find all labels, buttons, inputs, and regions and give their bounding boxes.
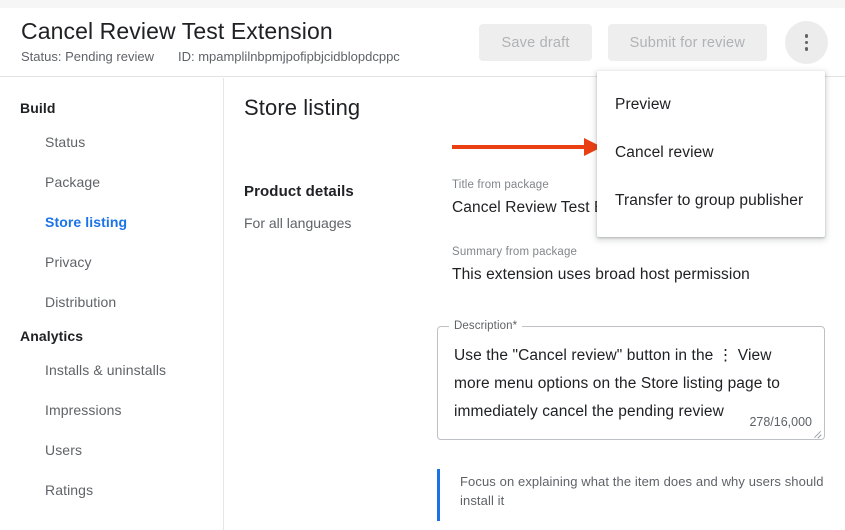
status-text: Status: Pending review: [21, 49, 154, 64]
header-metadata: Status: Pending reviewID: mpamplilnbpmjp…: [21, 49, 400, 64]
sidebar-group-analytics: Analytics: [0, 322, 223, 350]
title-from-package-value: Cancel Review Test E: [452, 199, 604, 217]
product-details-heading: Product details: [244, 183, 354, 200]
summary-from-package-label: Summary from package: [452, 246, 750, 258]
sidebar-item-privacy[interactable]: Privacy: [0, 242, 223, 282]
sidebar-navigation: Build Status Package Store listing Priva…: [0, 78, 224, 530]
more-options-button[interactable]: [785, 21, 828, 64]
summary-from-package-value: This extension uses broad host permissio…: [452, 266, 750, 284]
description-hint-text: Focus on explaining what the item does a…: [460, 469, 825, 510]
page-title-heading: Cancel Review Test Extension: [21, 18, 333, 45]
sidebar-item-impressions[interactable]: Impressions: [0, 390, 223, 430]
three-dots-vertical-icon: [805, 47, 809, 51]
top-chrome-strip: [0, 0, 845, 8]
title-from-package-field: Title from package Cancel Review Test E: [452, 179, 604, 217]
sidebar-item-package[interactable]: Package: [0, 162, 223, 202]
page-header: Cancel Review Test Extension Status: Pen…: [0, 8, 845, 77]
description-field[interactable]: Description* 278/16,000: [437, 326, 825, 440]
sidebar-item-ratings[interactable]: Ratings: [0, 470, 223, 510]
resize-handle-icon[interactable]: [812, 428, 822, 438]
menu-item-preview[interactable]: Preview: [597, 81, 825, 129]
header-actions: Save draft Submit for review: [479, 21, 828, 64]
product-details-subtext: For all languages: [244, 215, 351, 231]
title-from-package-label: Title from package: [452, 179, 604, 191]
summary-from-package-field: Summary from package This extension uses…: [452, 246, 750, 284]
description-character-counter: 278/16,000: [749, 415, 812, 429]
overflow-menu: Preview Cancel review Transfer to group …: [597, 71, 825, 237]
sidebar-item-users[interactable]: Users: [0, 430, 223, 470]
three-dots-vertical-icon: [805, 34, 809, 38]
menu-item-transfer-to-group-publisher[interactable]: Transfer to group publisher: [597, 177, 825, 225]
sidebar-item-store-listing[interactable]: Store listing: [0, 202, 223, 242]
save-draft-button[interactable]: Save draft: [479, 24, 591, 61]
sidebar-item-status[interactable]: Status: [0, 122, 223, 162]
sidebar-item-distribution[interactable]: Distribution: [0, 282, 223, 322]
description-hint: Focus on explaining what the item does a…: [437, 469, 825, 521]
sidebar-item-installs-uninstalls[interactable]: Installs & uninstalls: [0, 350, 223, 390]
extension-id-text: ID: mpamplilnbpmjpofipbjcidblopdcppc: [178, 49, 400, 64]
menu-item-cancel-review[interactable]: Cancel review: [597, 129, 825, 177]
sidebar-group-build: Build: [0, 94, 223, 122]
three-dots-vertical-icon: [805, 41, 809, 45]
extension-dashboard-page: Cancel Review Test Extension Status: Pen…: [0, 0, 845, 530]
submit-for-review-button[interactable]: Submit for review: [608, 24, 767, 61]
store-listing-heading: Store listing: [244, 95, 360, 121]
description-label: Description*: [449, 320, 522, 332]
